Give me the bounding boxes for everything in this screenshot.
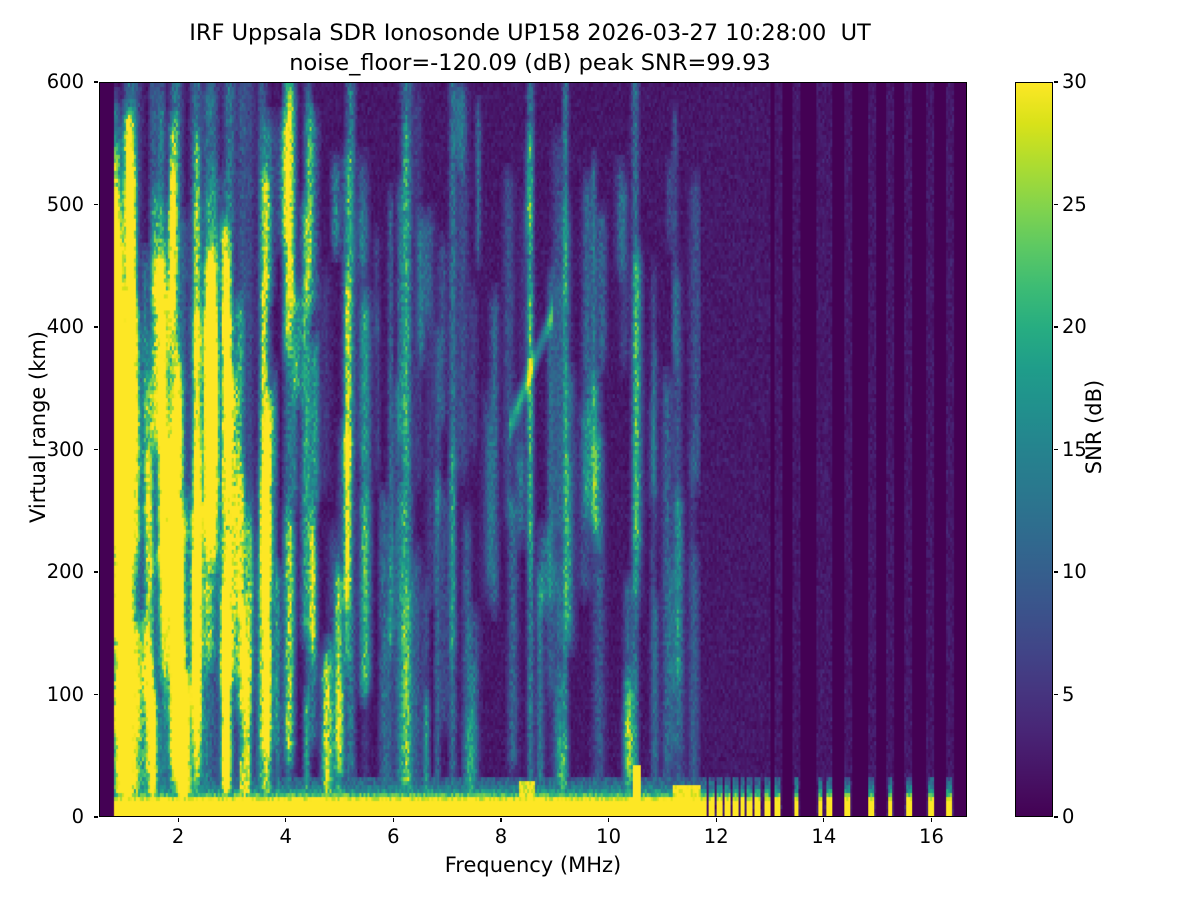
colorbar-tick-mark [1054,81,1058,82]
colorbar-tick-mark [1054,571,1058,572]
x-tick-mark [393,818,394,822]
y-tick-mark [94,694,98,695]
title-line-1: IRF Uppsala SDR Ionosonde UP158 2026-03-… [0,18,1060,48]
colorbar-label: SNR (dB) [1082,277,1106,577]
y-tick-label: 500 [0,193,84,217]
x-tick-label: 4 [251,825,321,849]
colorbar-tick-label: 5 [1062,683,1074,707]
y-tick-mark [94,326,98,327]
colorbar-tick-mark [1054,326,1058,327]
y-tick-label: 100 [0,683,84,707]
y-tick-mark [94,816,98,817]
x-tick-mark [178,818,179,822]
x-tick-label: 14 [789,825,859,849]
x-tick-label: 16 [896,825,966,849]
x-tick-label: 12 [681,825,751,849]
x-tick-label: 10 [574,825,644,849]
x-tick-mark [500,818,501,822]
ionogram-axes[interactable] [99,82,967,817]
colorbar-gradient [1016,83,1052,816]
figure-title: IRF Uppsala SDR Ionosonde UP158 2026-03-… [0,18,1060,78]
colorbar-tick-label: 30 [1062,70,1087,94]
colorbar-tick-mark [1054,816,1058,817]
y-tick-mark [94,449,98,450]
y-tick-mark [94,204,98,205]
x-tick-mark [285,818,286,822]
y-tick-mark [94,571,98,572]
y-axis-label: Virtual range (km) [26,237,50,617]
x-tick-label: 6 [358,825,428,849]
figure-canvas: IRF Uppsala SDR Ionosonde UP158 2026-03-… [0,0,1200,900]
x-axis-label: Frequency (MHz) [99,853,967,877]
colorbar[interactable] [1015,82,1053,817]
x-tick-label: 8 [466,825,536,849]
x-tick-label: 2 [143,825,213,849]
x-tick-mark [716,818,717,822]
y-tick-mark [94,81,98,82]
y-tick-label: 600 [0,70,84,94]
colorbar-tick-mark [1054,449,1058,450]
colorbar-tick-label: 25 [1062,193,1087,217]
colorbar-tick-label: 0 [1062,805,1074,829]
x-tick-mark [823,818,824,822]
y-tick-label: 0 [0,805,84,829]
title-line-2: noise_floor=-120.09 (dB) peak SNR=99.93 [0,48,1060,78]
colorbar-tick-mark [1054,694,1058,695]
x-tick-mark [931,818,932,822]
ionogram-heatmap[interactable] [100,83,966,816]
x-tick-mark [608,818,609,822]
colorbar-tick-mark [1054,204,1058,205]
